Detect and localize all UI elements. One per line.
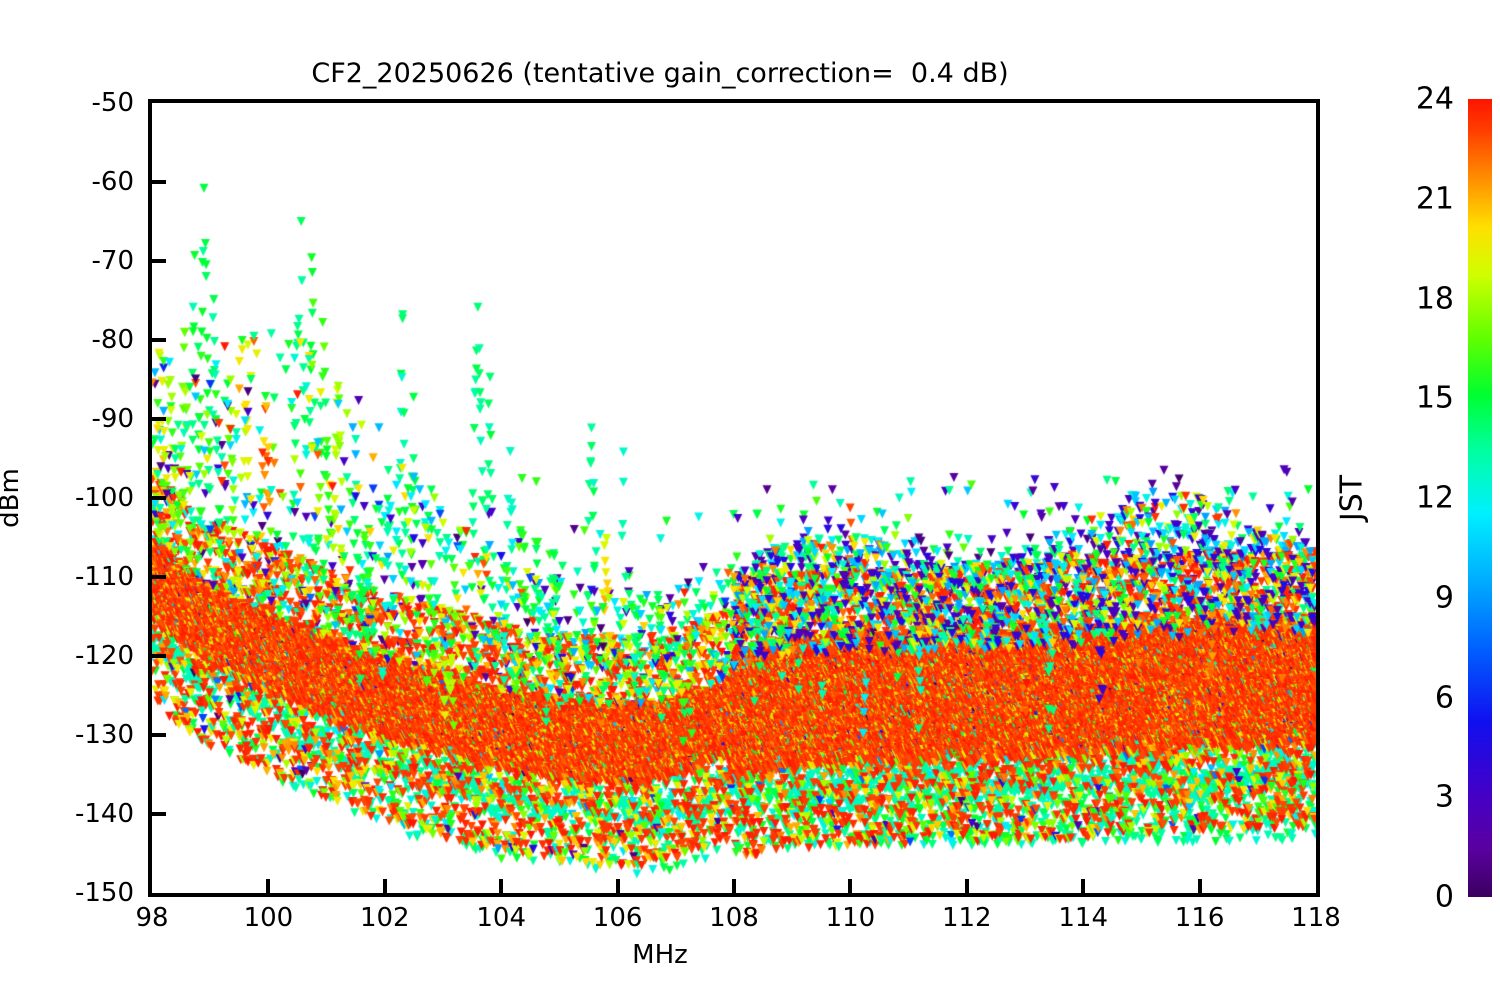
plot-area [148, 99, 1320, 897]
x-tick-label: 118 [1291, 903, 1341, 933]
x-tick [848, 879, 852, 893]
x-tick [383, 879, 387, 893]
x-tick-label: 110 [826, 903, 876, 933]
x-tick [732, 879, 736, 893]
page-title: CF2_20250626 (tentative gain_correction=… [0, 58, 1320, 89]
y-tick-label: -130 [0, 720, 134, 750]
colorbar-tick-label: 24 [1390, 82, 1454, 117]
colorbar-tick-label: 9 [1390, 580, 1454, 615]
y-tick [152, 733, 166, 737]
y-tick [152, 812, 166, 816]
colorbar-tick-label: 0 [1390, 880, 1454, 915]
x-tick-label: 108 [709, 903, 759, 933]
y-tick-label: -70 [0, 246, 134, 276]
x-tick-label: 98 [135, 903, 168, 933]
x-tick [266, 879, 270, 893]
colorbar-tick-label: 15 [1390, 381, 1454, 416]
x-axis-title: MHz [0, 940, 1320, 970]
y-tick [152, 575, 166, 579]
y-tick-label: -80 [0, 325, 134, 355]
y-tick [152, 654, 166, 658]
y-tick-label: -50 [0, 88, 134, 118]
x-tick [616, 879, 620, 893]
colorbar-tick-label: 12 [1390, 481, 1454, 516]
y-tick-label: -150 [0, 878, 134, 908]
colorbar-tick-label: 21 [1390, 181, 1454, 216]
y-tick-label: -60 [0, 167, 134, 197]
y-tick [152, 417, 166, 421]
y-tick-label: -140 [0, 799, 134, 829]
scatter-canvas [152, 103, 1316, 893]
colorbar-title: JST [1335, 475, 1370, 521]
y-axis-title: dBm [0, 468, 25, 528]
x-tick [1081, 879, 1085, 893]
x-tick [499, 879, 503, 893]
x-tick-label: 112 [942, 903, 992, 933]
x-tick-label: 100 [244, 903, 294, 933]
y-tick [152, 259, 166, 263]
colorbar-gradient [1468, 99, 1492, 897]
y-tick [152, 496, 166, 500]
x-tick [965, 879, 969, 893]
y-tick-label: -90 [0, 404, 134, 434]
x-tick [1198, 879, 1202, 893]
spectrum-plot-page: CF2_20250626 (tentative gain_correction=… [0, 0, 1500, 1000]
colorbar-tick-label: 3 [1390, 780, 1454, 815]
x-tick-label: 106 [593, 903, 643, 933]
x-tick-label: 114 [1058, 903, 1108, 933]
y-tick [152, 180, 166, 184]
colorbar-tick-label: 18 [1390, 281, 1454, 316]
x-tick-label: 104 [476, 903, 526, 933]
x-tick-label: 102 [360, 903, 410, 933]
colorbar-tick-label: 6 [1390, 680, 1454, 715]
colorbar [1468, 99, 1492, 897]
y-tick [152, 338, 166, 342]
y-tick-label: -110 [0, 562, 134, 592]
x-tick-label: 116 [1175, 903, 1225, 933]
y-tick-label: -120 [0, 641, 134, 671]
